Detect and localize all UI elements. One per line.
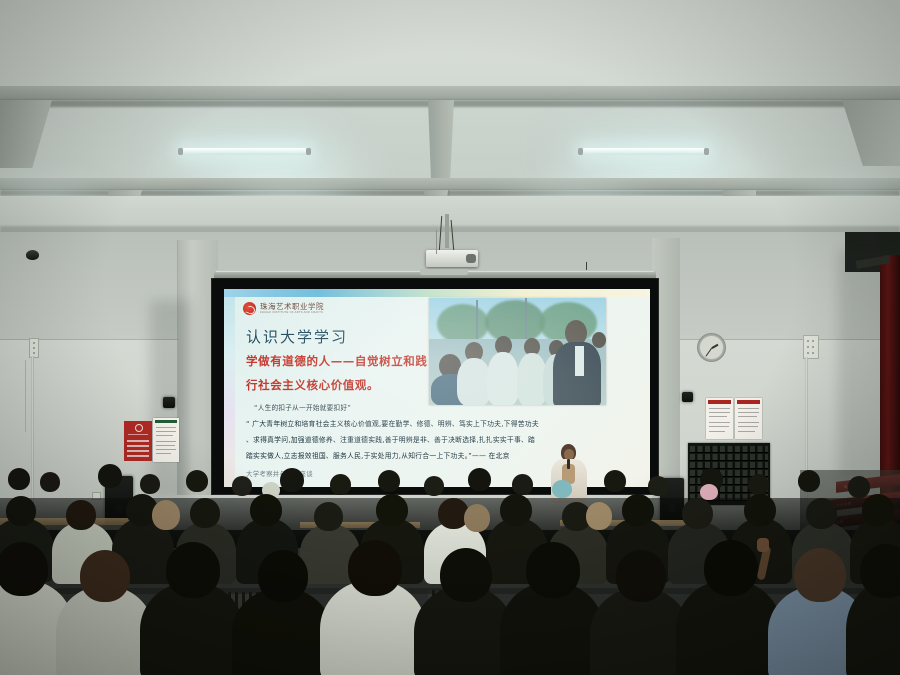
left-poster-wline-6 bbox=[156, 449, 176, 450]
aud-head-b5 bbox=[186, 470, 208, 492]
aud-head-b17 bbox=[798, 470, 820, 492]
seated-student-audience bbox=[0, 460, 900, 675]
rjb-dot-2 bbox=[812, 340, 814, 342]
left-poster-wline-4 bbox=[156, 441, 176, 442]
tube-cap-2b bbox=[704, 148, 709, 155]
fluorescent-tube-2 bbox=[582, 148, 706, 155]
aud-head-m12 bbox=[682, 498, 713, 529]
aud-head-blonde-3 bbox=[586, 502, 612, 530]
aud-head-b14 bbox=[648, 476, 668, 496]
security-camera-icon bbox=[26, 250, 39, 260]
aud-head-f10 bbox=[794, 548, 846, 602]
slide-left-stripe bbox=[224, 297, 235, 487]
left-poster-red bbox=[124, 421, 152, 461]
logo-institution-en: ZHUHAI INSTITUTE OF ARTS AND CRAFTS bbox=[260, 311, 324, 314]
aud-head-b7 bbox=[280, 468, 304, 492]
slide-logo: 珠海艺术职业学院 ZHUHAI INSTITUTE OF ARTS AND CR… bbox=[243, 302, 324, 315]
rpl-line-5 bbox=[709, 426, 729, 427]
left-wall-cable bbox=[25, 360, 26, 432]
aud-head-b6 bbox=[232, 476, 252, 496]
aud-head-b2 bbox=[40, 472, 60, 492]
slide-body-line1: “ 广大青年树立和培育社会主义核心价值观,要在勤学、修德、明辨、笃实上下功夫,下… bbox=[246, 417, 646, 433]
aud-head-b11 bbox=[468, 468, 491, 491]
aud-head-m7 bbox=[376, 494, 408, 526]
right-poster-left-header bbox=[708, 400, 731, 404]
aud-head-m1 bbox=[6, 496, 36, 526]
left-poster-green-header bbox=[155, 420, 177, 423]
left-poster-red-table bbox=[127, 439, 149, 457]
slide-subtitle-line1: 学做有道德的人——自觉树立和践 bbox=[246, 350, 428, 372]
screen-valance-bracket bbox=[420, 269, 468, 275]
switch-dot-2 bbox=[33, 347, 35, 349]
left-poster-white bbox=[153, 418, 179, 462]
logo-institution-cn: 珠海艺术职业学院 bbox=[260, 303, 324, 311]
tube-cap-2a bbox=[578, 148, 583, 155]
left-poster-wline-1 bbox=[156, 427, 176, 428]
tube-cap-1b bbox=[306, 148, 311, 155]
aud-head-m5 bbox=[250, 494, 282, 526]
fluorescent-tube-1 bbox=[182, 148, 308, 155]
aud-head-f2 bbox=[80, 550, 130, 602]
aud-head-f6 bbox=[440, 548, 492, 602]
aud-head-blonde-2 bbox=[464, 504, 490, 532]
slide-subtitle-line2: 行社会主义核心价值观。 bbox=[246, 374, 379, 396]
left-poster-rline-1 bbox=[128, 434, 148, 435]
aud-head-m15 bbox=[862, 494, 894, 526]
aud-cap-pink-1 bbox=[700, 484, 718, 500]
aud-head-m9 bbox=[500, 494, 532, 526]
aud-head-m11 bbox=[622, 494, 654, 526]
slide-photo bbox=[429, 298, 606, 405]
aud-head-m14 bbox=[806, 498, 837, 529]
rpl-line-1 bbox=[709, 408, 730, 409]
aud-head-b16 bbox=[748, 474, 769, 495]
aud-head-f4 bbox=[258, 550, 308, 602]
rpr-line-5 bbox=[738, 426, 758, 427]
swirl-logo-icon bbox=[243, 302, 256, 315]
left-wall-speaker-small bbox=[163, 397, 175, 408]
projector-lens bbox=[466, 254, 476, 263]
left-poster-wline-7 bbox=[156, 453, 171, 454]
rpr-line-2 bbox=[738, 412, 759, 413]
aud-head-m6 bbox=[314, 502, 343, 531]
aud-head-b18 bbox=[848, 476, 870, 498]
projector-mount-pole bbox=[445, 214, 449, 248]
tube-cap-1a bbox=[178, 148, 183, 155]
right-poster-right-header bbox=[737, 400, 760, 404]
left-poster-wline-5 bbox=[156, 445, 175, 446]
rpr-line-1 bbox=[738, 408, 759, 409]
ceiling-beam-2 bbox=[0, 178, 900, 190]
rjb-dot-1 bbox=[807, 340, 809, 342]
rpl-line-4 bbox=[709, 422, 730, 423]
aud-head-f3 bbox=[166, 542, 220, 598]
left-poster-emblem-icon bbox=[135, 424, 143, 432]
aud-head-b3 bbox=[98, 464, 122, 488]
aud-head-f9 bbox=[704, 540, 758, 596]
aud-head-b12 bbox=[512, 474, 533, 495]
aud-head-f8 bbox=[616, 550, 666, 602]
left-poster-wline-2 bbox=[156, 431, 176, 432]
aud-head-b8 bbox=[330, 474, 351, 495]
raised-hand bbox=[757, 538, 769, 552]
rpr-line-3 bbox=[738, 416, 757, 417]
left-poster-wline-3 bbox=[156, 435, 173, 436]
aud-head-m2 bbox=[66, 500, 96, 530]
switch-dot-1 bbox=[33, 342, 35, 344]
right-poster-left bbox=[706, 398, 733, 439]
aud-head-f11 bbox=[860, 544, 900, 598]
aud-head-m4 bbox=[190, 498, 220, 528]
aud-head-m13 bbox=[744, 494, 776, 526]
light-switch-plate[interactable] bbox=[29, 338, 39, 358]
slide-title: 认识大学学习 bbox=[246, 326, 348, 347]
right-wall-junction-box bbox=[803, 335, 819, 359]
rpl-line-6 bbox=[709, 431, 725, 432]
ceiling-panel-top bbox=[0, 0, 900, 86]
lecture-hall-photo: 珠海艺术职业学院 ZHUHAI INSTITUTE OF ARTS AND CR… bbox=[0, 0, 900, 675]
slide-top-colorbar bbox=[224, 289, 650, 297]
rjb-dot-3 bbox=[807, 346, 809, 348]
aud-head-blonde-1 bbox=[152, 500, 180, 530]
rpl-line-3 bbox=[709, 416, 727, 417]
clock-minute-hand bbox=[705, 348, 712, 357]
aud-head-b1 bbox=[8, 468, 30, 490]
clock-face bbox=[700, 336, 723, 359]
aud-head-b4 bbox=[140, 474, 160, 494]
photo-projection-tint bbox=[429, 298, 606, 405]
aud-head-f1 bbox=[0, 542, 48, 596]
rpr-line-6 bbox=[738, 431, 755, 432]
wall-clock bbox=[697, 333, 726, 362]
aud-head-b13 bbox=[604, 470, 626, 492]
projector-power-cable bbox=[436, 230, 437, 254]
rjb-dot-5 bbox=[807, 352, 809, 354]
aud-head-f7 bbox=[526, 542, 580, 598]
switch-dot-3 bbox=[33, 352, 35, 354]
rjb-dot-4 bbox=[812, 346, 814, 348]
aud-head-b9 bbox=[378, 470, 400, 492]
aud-cap-teal-1 bbox=[552, 480, 572, 498]
rpl-line-2 bbox=[709, 412, 730, 413]
key-cabinet-row-1 bbox=[690, 446, 768, 453]
aud-head-f5 bbox=[348, 540, 402, 596]
slide-quote: “人生的扣子从一开始就要扣好” bbox=[254, 402, 351, 412]
rpr-line-4 bbox=[738, 422, 759, 423]
ceiling-beam-1 bbox=[0, 86, 900, 100]
aud-head-b10 bbox=[424, 476, 444, 496]
right-wall-speaker-small bbox=[682, 392, 693, 402]
right-poster-right bbox=[735, 398, 762, 439]
clock-hour-hand bbox=[711, 344, 718, 349]
rjb-dot-6 bbox=[812, 352, 814, 354]
